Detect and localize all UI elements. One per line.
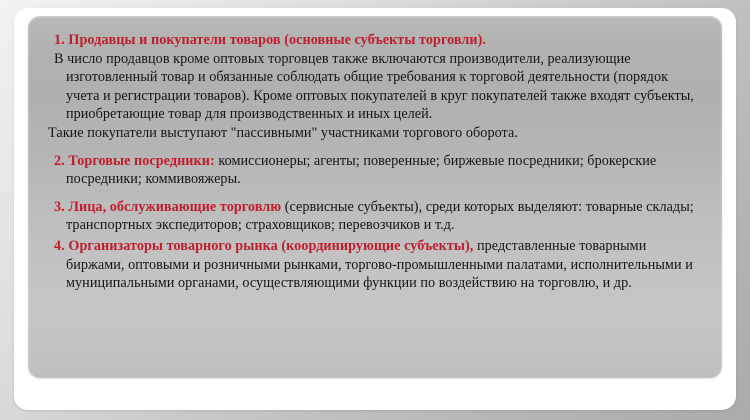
item-1-heading-text: Продавцы и покупатели товаров (основные … bbox=[68, 32, 486, 48]
item-3-number: 3. bbox=[54, 199, 65, 215]
item-1-note-text: Такие покупатели выступают "пассивными" … bbox=[48, 125, 518, 141]
list-item-2: 2. Торговые посредники: комиссионеры; аг… bbox=[48, 152, 702, 189]
spacer-1 bbox=[48, 143, 702, 152]
item-1-number: 1. bbox=[54, 32, 65, 48]
item-4-heading-text: Организаторы товарного рынка (координиру… bbox=[68, 238, 473, 254]
list-item-1-note: Такие покупатели выступают "пассивными" … bbox=[48, 124, 702, 143]
list-item-4: 4. Организаторы товарного рынка (координ… bbox=[48, 237, 702, 293]
list-item-1-body: В число продавцов кроме оптовых торговце… bbox=[48, 50, 702, 124]
white-frame: 1. Продавцы и покупатели товаров (основн… bbox=[14, 8, 736, 410]
list-item-3: 3. Лица, обслуживающие торговлю (сервисн… bbox=[48, 198, 702, 235]
content-panel: 1. Продавцы и покупатели товаров (основн… bbox=[28, 16, 722, 378]
item-1-body-text: В число продавцов кроме оптовых торговце… bbox=[54, 51, 694, 123]
spacer-2 bbox=[48, 189, 702, 198]
item-4-number: 4. bbox=[54, 238, 65, 254]
item-2-heading-text: Торговые посредники: bbox=[68, 153, 214, 169]
item-3-heading-text: Лица, обслуживающие торговлю bbox=[68, 199, 281, 215]
list-item-1-heading: 1. Продавцы и покупатели товаров (основн… bbox=[48, 31, 702, 50]
item-2-number: 2. bbox=[54, 153, 65, 169]
slide-canvas: 1. Продавцы и покупатели товаров (основн… bbox=[0, 0, 750, 420]
